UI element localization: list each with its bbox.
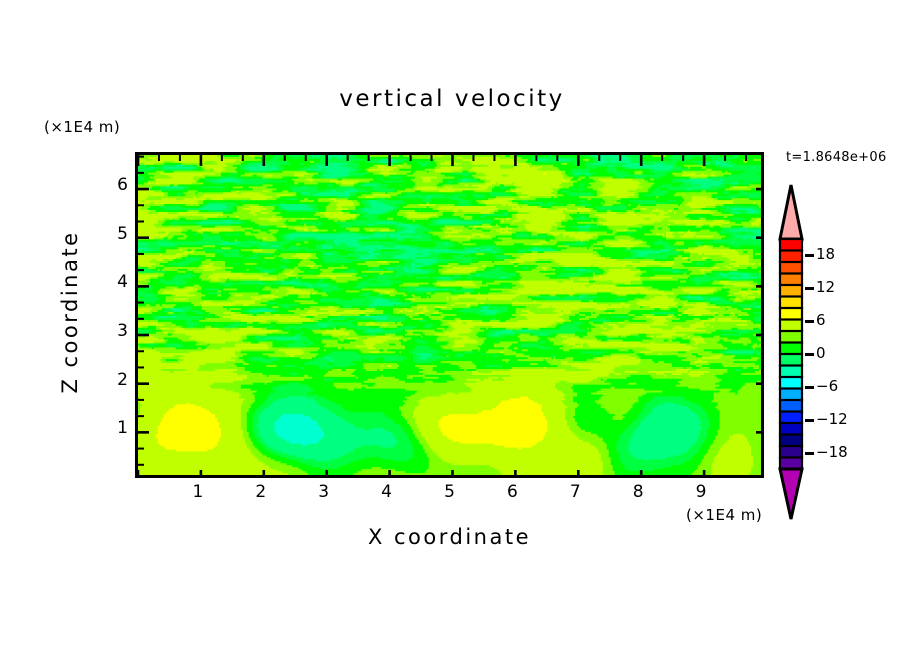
colorbar-tick-mark [805, 254, 814, 257]
x-tick-label: 2 [241, 482, 281, 502]
colorbar-tick-label: 18 [816, 245, 835, 263]
colorbar-tick-label: −6 [816, 377, 838, 395]
contour-plot-panel [135, 152, 764, 478]
y-tick-label: 1 [88, 418, 128, 438]
colorbar-tick-mark [805, 287, 814, 290]
colorbar: 181260−6−12−18 [772, 183, 818, 521]
x-tick-label: 3 [304, 482, 344, 502]
y-axis-unit-label: (×1E4 m) [44, 118, 120, 136]
colorbar-tick-label: 6 [816, 311, 826, 329]
x-tick-label: 5 [430, 482, 470, 502]
y-tick-label: 3 [88, 321, 128, 341]
colorbar-tick-mark [805, 320, 814, 323]
colorbar-tick-mark [805, 386, 814, 389]
colorbar-tick-label: −18 [816, 443, 848, 461]
y-tick-label: 2 [88, 370, 128, 390]
x-axis-title: X coordinate [135, 525, 764, 549]
colorbar-tick-mark [805, 353, 814, 356]
colorbar-gradient [772, 183, 818, 521]
x-tick-label: 6 [492, 482, 532, 502]
x-axis-unit-label: (×1E4 m) [686, 506, 762, 524]
colorbar-tick-mark [805, 452, 814, 455]
colorbar-tick-label: 0 [816, 344, 826, 362]
y-tick-label: 4 [88, 272, 128, 292]
y-tick-label: 6 [88, 175, 128, 195]
x-tick-label: 8 [618, 482, 658, 502]
page-title: vertical velocity [0, 86, 904, 112]
x-tick-label: 4 [367, 482, 407, 502]
y-axis-title: Z coordinate [58, 222, 82, 402]
y-tick-label: 5 [88, 224, 128, 244]
contour-field [138, 155, 761, 475]
colorbar-tick-label: −12 [816, 410, 848, 428]
x-tick-label: 9 [681, 482, 721, 502]
x-tick-label: 1 [178, 482, 218, 502]
x-tick-label: 7 [555, 482, 595, 502]
colorbar-tick-mark [805, 419, 814, 422]
timestamp-label: t=1.8648e+06 [786, 150, 887, 165]
colorbar-tick-label: 12 [816, 278, 835, 296]
